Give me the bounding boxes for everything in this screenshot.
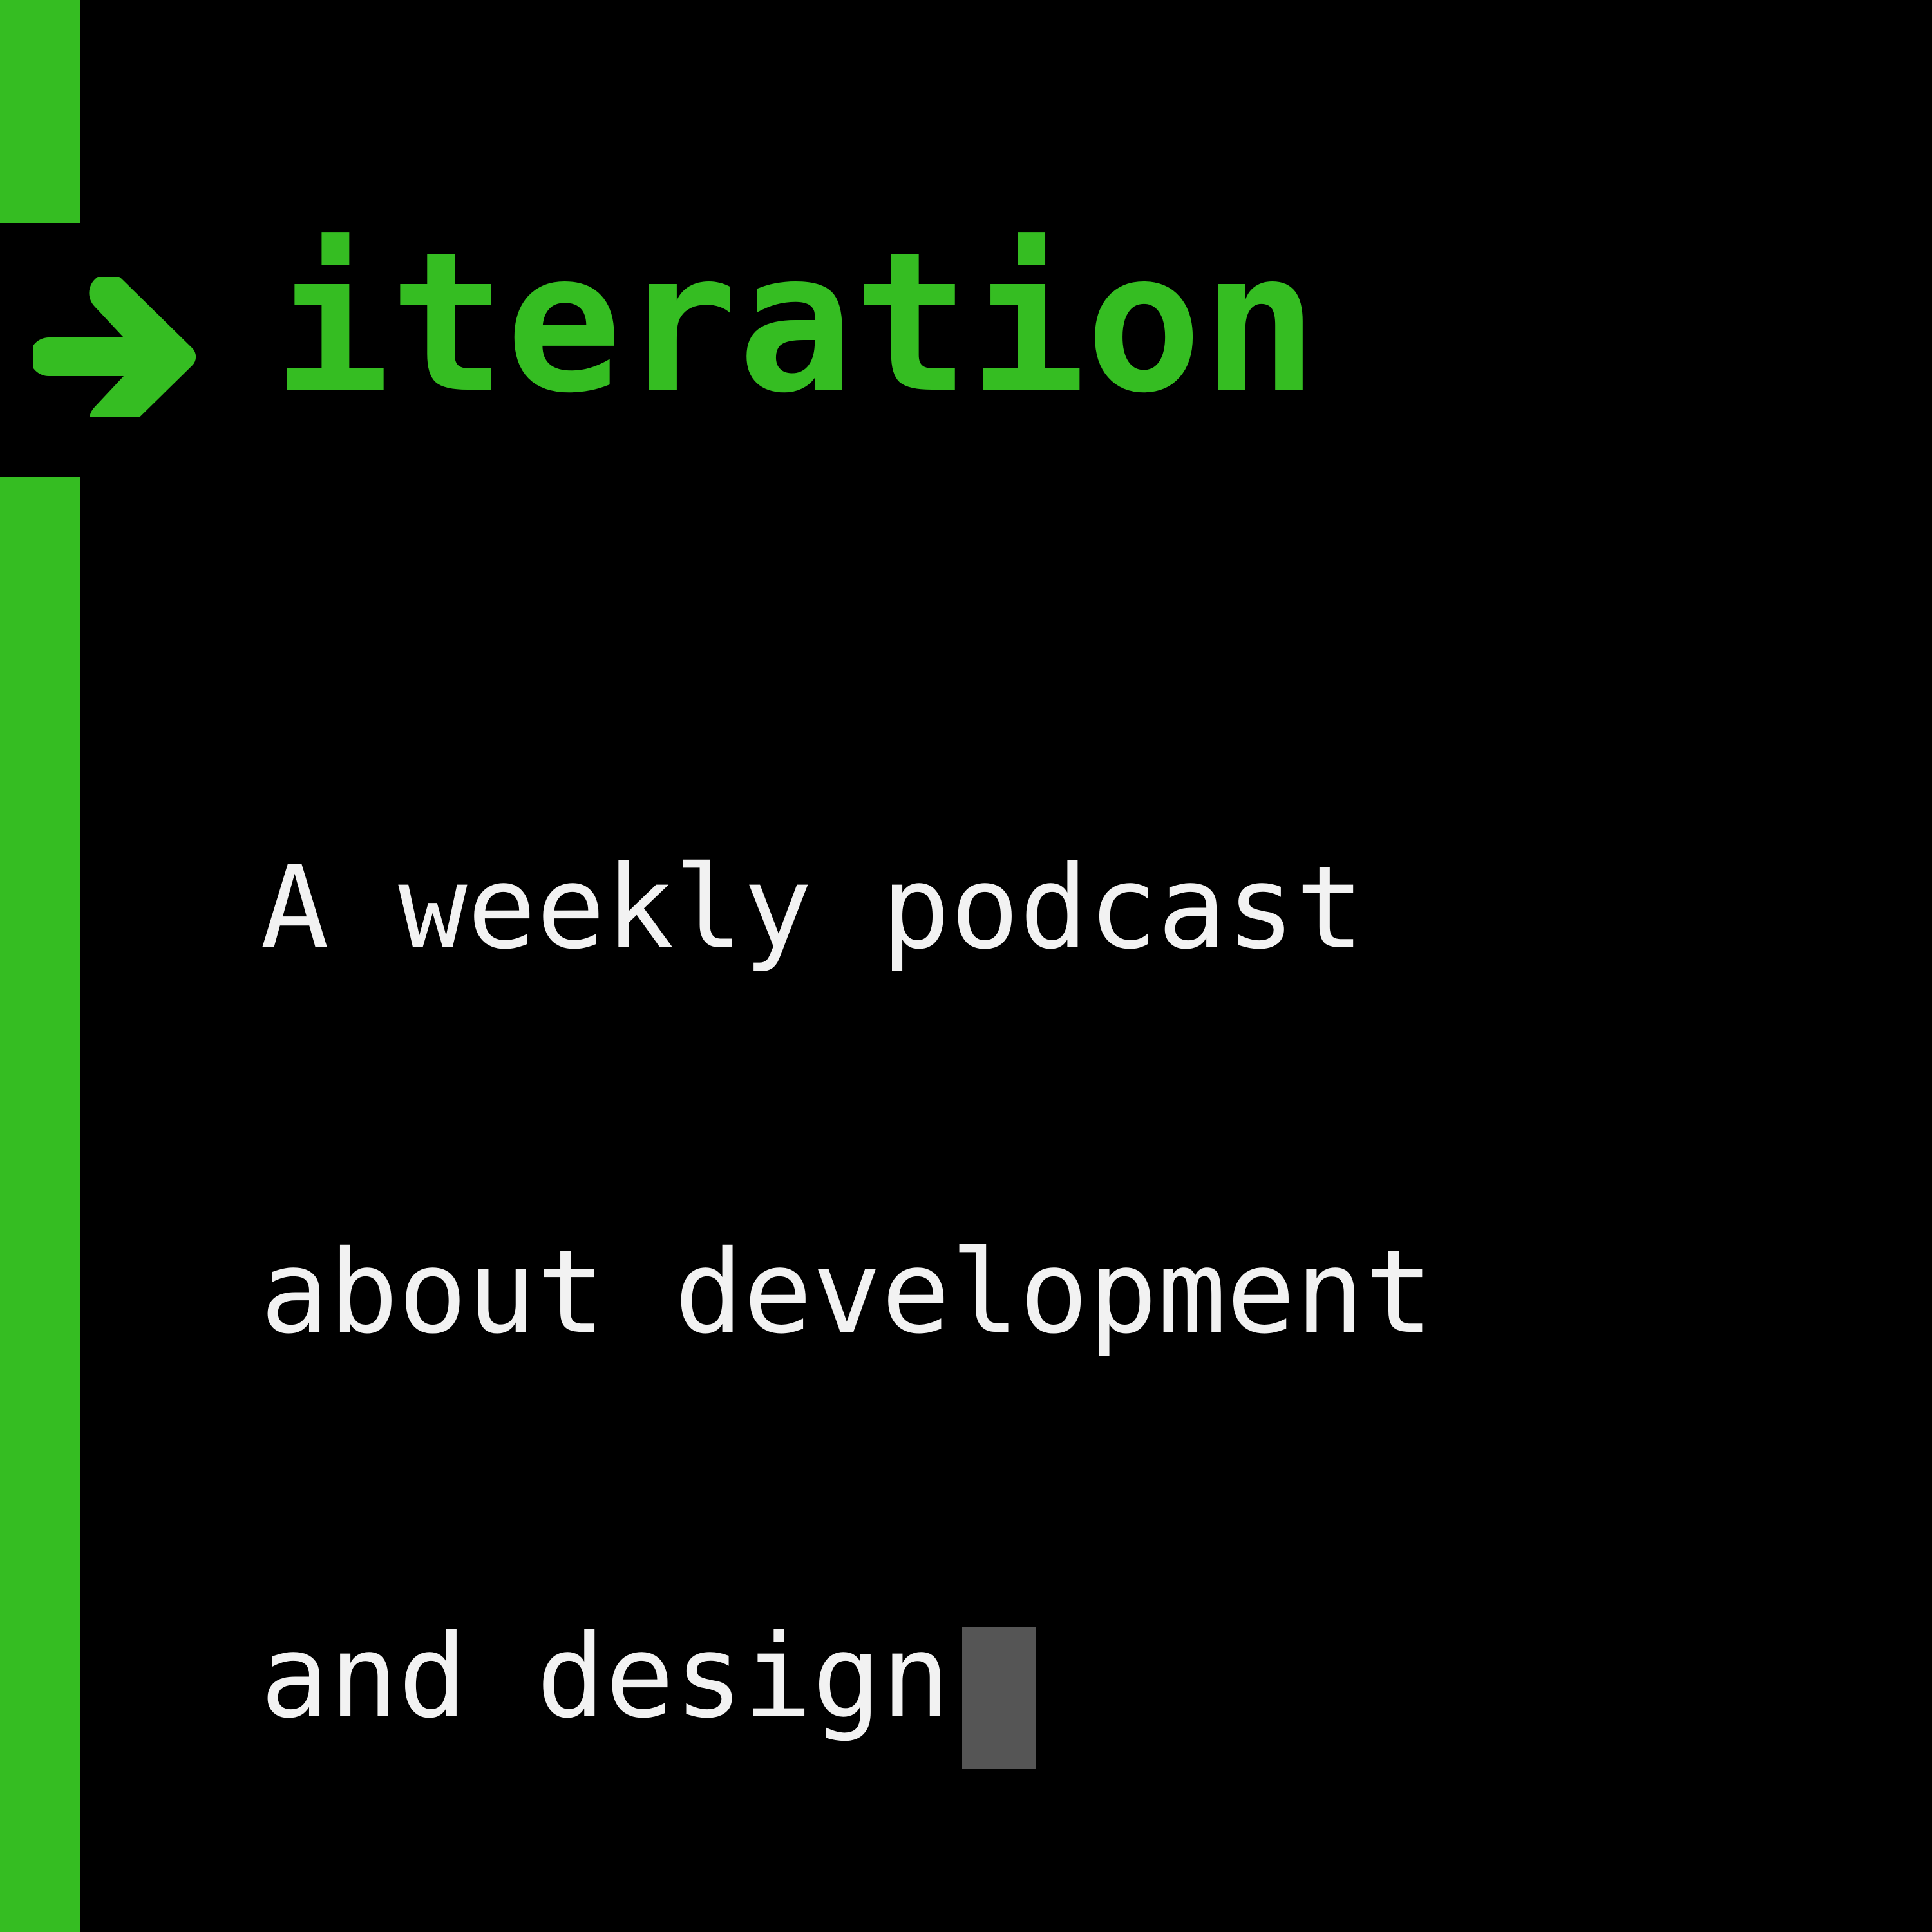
page-title: iteration <box>274 227 1318 420</box>
tagline: A weekly podcast about development and d… <box>260 587 1434 1932</box>
left-accent-rail-bottom <box>0 477 80 1932</box>
podcast-cover-art: iteration A weekly podcast about develop… <box>0 0 1932 1932</box>
tagline-line-3-row: and design <box>260 1613 1434 1769</box>
terminal-cursor-block <box>962 1627 1036 1769</box>
tagline-line-3: and design <box>260 1613 951 1741</box>
tagline-line-1: A weekly podcast <box>260 844 1434 972</box>
left-accent-rail-top <box>0 0 80 223</box>
right-arrow-icon <box>33 277 200 417</box>
tagline-line-2: about development <box>260 1228 1434 1356</box>
